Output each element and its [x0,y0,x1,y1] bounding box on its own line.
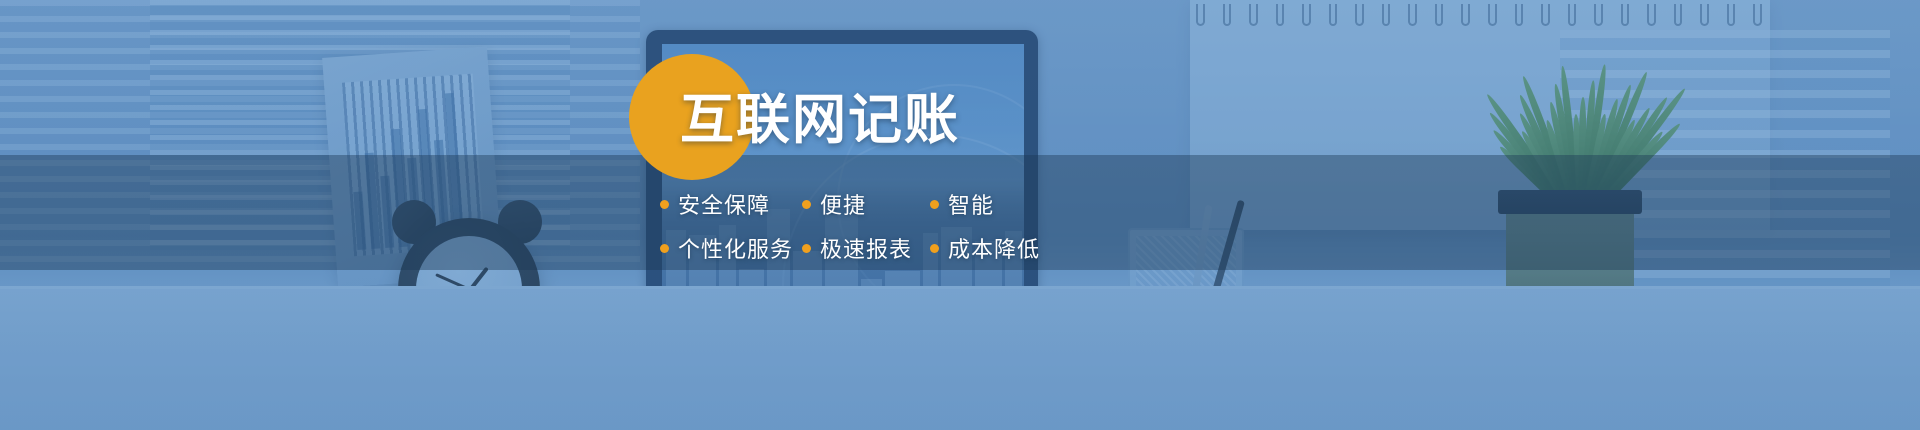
bullet-dot-icon [930,200,939,209]
feature-label: 极速报表 [820,232,912,264]
bullet-dot-icon [802,200,811,209]
banner-content: 互联网记账 安全保障便捷智能个性化服务极速报表成本降低 [0,0,1920,430]
feature-label: 安全保障 [678,188,770,220]
feature-item: 个性化服务 [660,232,802,264]
feature-label: 成本降低 [948,232,1040,264]
bullet-dot-icon [660,244,669,253]
feature-label: 智能 [948,188,994,220]
feature-row: 个性化服务极速报表成本降低 [660,226,1060,270]
feature-item: 极速报表 [802,232,930,264]
feature-item: 安全保障 [660,188,802,220]
bullet-dot-icon [930,244,939,253]
feature-item: 智能 [930,188,1050,220]
feature-item: 成本降低 [930,232,1050,264]
banner-headline: 互联网记账 [680,90,960,149]
promo-banner: 互联网记账 安全保障便捷智能个性化服务极速报表成本降低 [0,0,1920,430]
bullet-dot-icon [660,200,669,209]
bullet-dot-icon [802,244,811,253]
feature-row: 安全保障便捷智能 [660,182,1060,226]
feature-label: 个性化服务 [678,232,793,264]
feature-item: 便捷 [802,188,930,220]
feature-label: 便捷 [820,188,866,220]
feature-list: 安全保障便捷智能个性化服务极速报表成本降低 [660,182,1060,270]
